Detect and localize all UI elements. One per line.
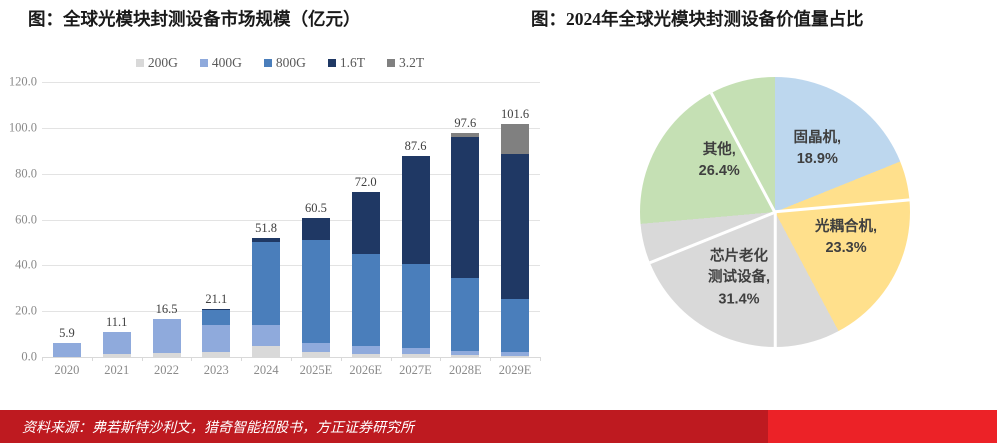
x-axis-tick-label: 2029E (499, 363, 532, 378)
legend-swatch-icon (328, 59, 336, 67)
x-axis-tick (540, 357, 541, 361)
legend-swatch-icon (200, 59, 208, 67)
bar-segment-1.6t (501, 154, 529, 299)
pie-slice-label: 固晶机,18.9% (794, 128, 842, 170)
bar-segment-1.6t (402, 156, 430, 263)
footer-band: 资料来源：弗若斯特沙利文，猎奇智能招股书，方正证券研究所 方正证券 (0, 410, 997, 443)
pie-slice-label: 芯片老化测试设备,31.4% (708, 247, 770, 310)
bar-chart-title: 图：全球光模块封测设备市场规模（亿元） (28, 6, 361, 31)
x-axis-tick (92, 357, 93, 361)
bar-segment-400g (103, 332, 131, 354)
pie-slice-name: 光耦合机, (815, 217, 877, 238)
x-axis-tick (440, 357, 441, 361)
legend-label: 400G (212, 55, 242, 71)
bar-value-label: 97.6 (454, 116, 476, 131)
x-axis-tick (391, 357, 392, 361)
bar-segment-800g (402, 264, 430, 349)
bar-segment-1.6t (352, 192, 380, 254)
pie-slice-label: 其他,26.4% (699, 140, 740, 182)
pie-slice-label: 光耦合机,23.3% (815, 217, 877, 259)
bar-stack (302, 218, 330, 357)
legend-label: 800G (276, 55, 306, 71)
x-axis-tick (142, 357, 143, 361)
bar-group[interactable] (302, 82, 330, 357)
x-axis-tick (490, 357, 491, 361)
x-axis-tick-label: 2028E (449, 363, 482, 378)
bar-value-label: 72.0 (355, 175, 377, 190)
source-note: 资料来源：弗若斯特沙利文，猎奇智能招股书，方正证券研究所 (22, 417, 414, 437)
bar-segment-400g (202, 325, 230, 353)
bar-segment-800g (302, 240, 330, 343)
bar-stack (103, 332, 131, 357)
bar-stack (153, 319, 181, 357)
bar-group[interactable] (252, 82, 280, 357)
footer-band-light (768, 410, 997, 443)
pie-slice-value: 18.9% (794, 149, 842, 170)
x-axis-labels: 202020212022202320242025E2026E2027E2028E… (42, 361, 540, 385)
legend-label: 3.2T (399, 55, 424, 71)
pie-slice-name-line1: 芯片老化 (708, 247, 770, 268)
bar-stack (252, 238, 280, 357)
pie-chart-graphic: 固晶机,18.9%光耦合机,23.3%芯片老化测试设备,31.4%其他,26.4… (640, 77, 910, 347)
bar-segment-400g (302, 343, 330, 352)
pie-slice-value: 26.4% (699, 161, 740, 182)
bar-value-label: 101.6 (501, 107, 529, 122)
bar-segment-200g (252, 346, 280, 357)
y-axis-tick-label: 60.0 (15, 212, 37, 227)
x-axis-tick (191, 357, 192, 361)
x-axis-tick (241, 357, 242, 361)
x-axis-tick-label: 2023 (204, 363, 229, 378)
pie-slice-value: 31.4% (708, 289, 770, 310)
legend-item-200g[interactable]: 200G (136, 55, 178, 71)
bar-stack (202, 309, 230, 357)
x-axis-tick-label: 2020 (54, 363, 79, 378)
bar-value-label: 16.5 (156, 302, 178, 317)
y-axis-tick-label: 100.0 (9, 120, 37, 135)
pie-slice-name-line2: 测试设备, (708, 268, 770, 289)
bar-group[interactable] (352, 82, 380, 357)
bar-stack (501, 124, 529, 357)
y-axis-tick-label: 0.0 (21, 350, 37, 365)
bar-value-label: 51.8 (255, 221, 277, 236)
legend-item-400g[interactable]: 400G (200, 55, 242, 71)
bar-segment-800g (501, 299, 529, 353)
legend-item-1.6t[interactable]: 1.6T (328, 55, 365, 71)
x-axis-tick (341, 357, 342, 361)
bar-chart-legend: 200G400G800G1.6T3.2T (0, 55, 560, 71)
x-axis-tick (291, 357, 292, 361)
bar-segment-400g (252, 325, 280, 346)
bar-chart-plot-area: 0.020.040.060.080.0100.0120.05.911.116.5… (42, 82, 540, 357)
pie-slice-name: 固晶机, (794, 128, 842, 149)
bar-stack (53, 343, 81, 357)
y-axis-tick-label: 40.0 (15, 258, 37, 273)
x-axis-tick-label: 2025E (300, 363, 333, 378)
legend-item-3.2t[interactable]: 3.2T (387, 55, 424, 71)
bar-segment-400g (352, 346, 380, 354)
bar-value-label: 21.1 (205, 292, 227, 307)
bar-segment-800g (202, 310, 230, 325)
bar-value-label: 11.1 (106, 315, 127, 330)
bar-chart-panel: 200G400G800G1.6T3.2T 0.020.040.060.080.0… (0, 45, 560, 390)
x-axis-tick-label: 2022 (154, 363, 179, 378)
legend-label: 1.6T (340, 55, 365, 71)
bar-stack (352, 192, 380, 357)
bar-segment-3.2t (501, 124, 529, 154)
bar-value-label: 60.5 (305, 201, 327, 216)
y-axis-tick-label: 120.0 (9, 75, 37, 90)
x-axis-tick-label: 2026E (349, 363, 382, 378)
bar-segment-400g (53, 343, 81, 357)
pie-chart-panel: 固晶机,18.9%光耦合机,23.3%芯片老化测试设备,31.4%其他,26.4… (560, 45, 997, 390)
bar-value-label: 5.9 (59, 326, 75, 341)
bar-group[interactable] (202, 82, 230, 357)
x-axis-tick-label: 2021 (104, 363, 129, 378)
x-axis-tick-label: 2024 (254, 363, 279, 378)
bar-segment-400g (153, 319, 181, 353)
bar-stack (402, 156, 430, 357)
bar-segment-800g (451, 278, 479, 351)
legend-item-800g[interactable]: 800G (264, 55, 306, 71)
legend-swatch-icon (136, 59, 144, 67)
bar-group[interactable] (53, 82, 81, 357)
pie-chart-title: 图：2024年全球光模块封测设备价值量占比 (531, 6, 864, 31)
bar-stack (451, 133, 479, 357)
x-axis-tick-label: 2027E (399, 363, 432, 378)
bar-group[interactable] (402, 82, 430, 357)
pie-slice-divider (774, 212, 777, 347)
slide-canvas: 图：全球光模块封测设备市场规模（亿元） 图：2024年全球光模块封测设备价值量占… (0, 0, 997, 443)
bar-segment-1.6t (451, 137, 479, 278)
pie-slice-name: 其他, (699, 140, 740, 161)
legend-swatch-icon (264, 59, 272, 67)
y-axis-tick-label: 80.0 (15, 166, 37, 181)
bar-group[interactable] (501, 82, 529, 357)
bar-segment-800g (252, 242, 280, 325)
y-axis-tick-label: 20.0 (15, 304, 37, 319)
legend-label: 200G (148, 55, 178, 71)
pie-slice-value: 23.3% (815, 238, 877, 259)
x-axis-tick (42, 357, 43, 361)
bar-segment-800g (352, 254, 380, 346)
bar-segment-1.6t (302, 218, 330, 240)
legend-swatch-icon (387, 59, 395, 67)
bar-value-label: 87.6 (405, 139, 427, 154)
